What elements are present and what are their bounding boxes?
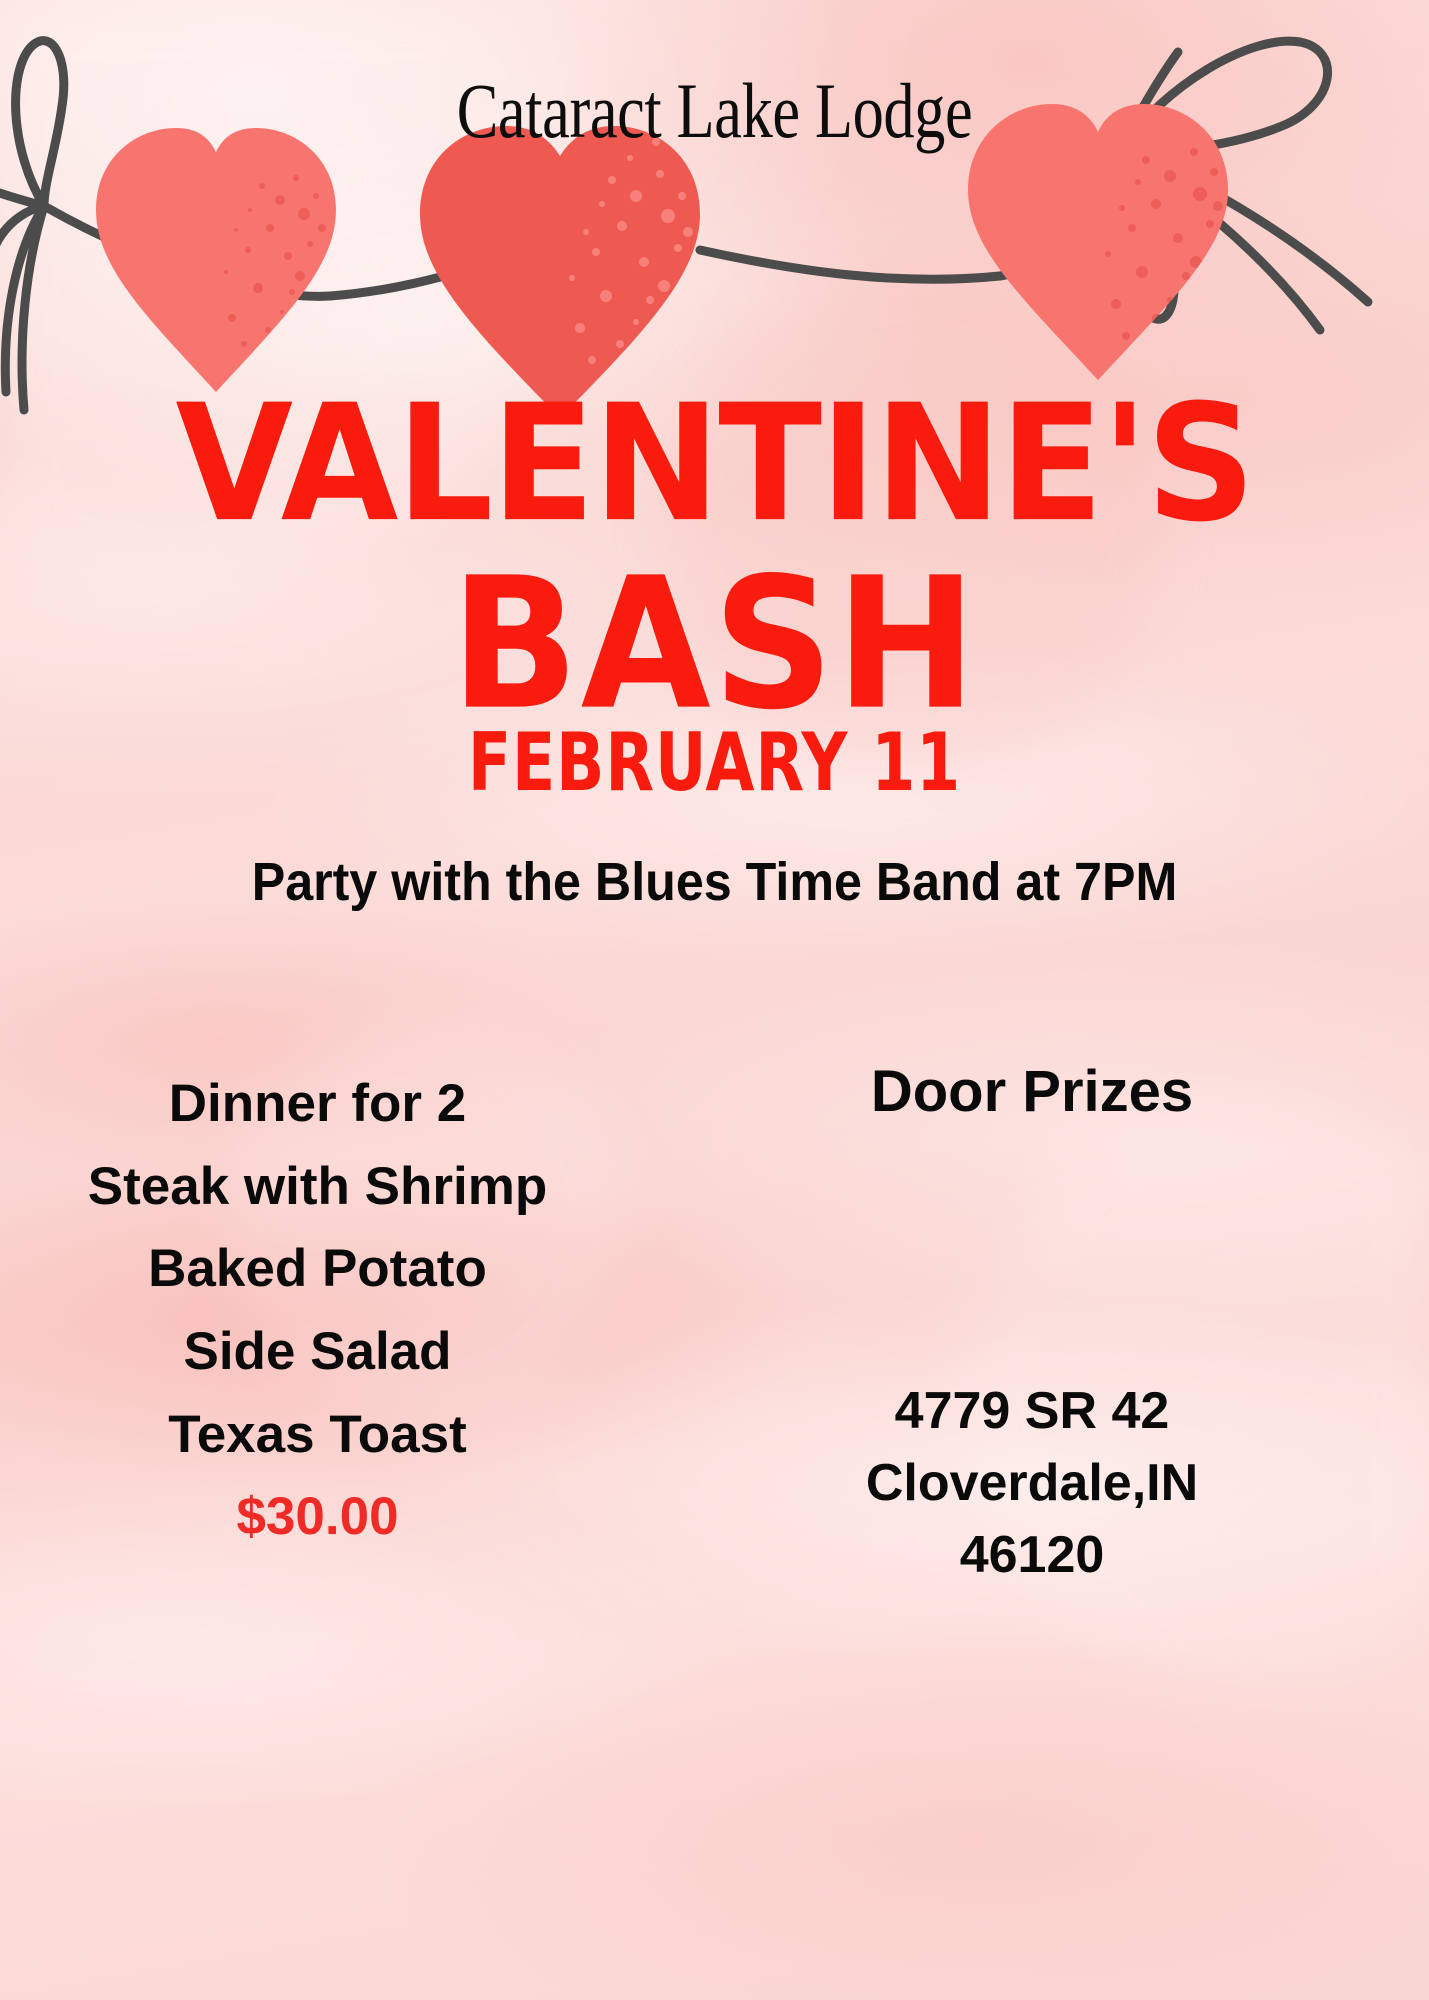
menu-item: Side Salad: [0, 1311, 635, 1394]
ribbon-bow-left-icon: [0, 41, 64, 410]
info-column: Door Prizes 4779 SR 42 Cloverdale,IN 461…: [635, 1045, 1429, 1985]
address-line-2: Cloverdale,IN: [635, 1448, 1429, 1520]
door-prizes-heading: Door Prizes: [635, 1045, 1429, 1121]
menu-item: Baked Potato: [0, 1228, 635, 1311]
venue-address: 4779 SR 42 Cloverdale,IN 46120: [635, 1376, 1429, 1591]
menu-price: $30.00: [0, 1476, 635, 1559]
valentines-bash-flyer: Cataract Lake Lodge VALENTINE'S BASH FEB…: [0, 0, 1429, 2000]
address-line-1: 4779 SR 42: [635, 1376, 1429, 1448]
headline-valentines: VALENTINE'S: [0, 388, 1429, 541]
headline-bash: BASH: [0, 553, 1429, 734]
details-columns: Dinner for 2 Steak with Shrimp Baked Pot…: [0, 1045, 1429, 1985]
band-info: Party with the Blues Time Band at 7PM: [115, 848, 1314, 917]
heart-icon-left: [96, 128, 336, 392]
menu-column: Dinner for 2 Steak with Shrimp Baked Pot…: [0, 1045, 635, 1985]
heart-garland: [0, 0, 1429, 420]
lodge-name-title: Cataract Lake Lodge: [143, 72, 1286, 150]
address-line-3: 46120: [635, 1520, 1429, 1592]
menu-item: Texas Toast: [0, 1394, 635, 1477]
menu-item: Dinner for 2: [0, 1063, 635, 1146]
menu-item: Steak with Shrimp: [0, 1146, 635, 1229]
event-date: FEBRUARY 11: [86, 722, 1344, 803]
